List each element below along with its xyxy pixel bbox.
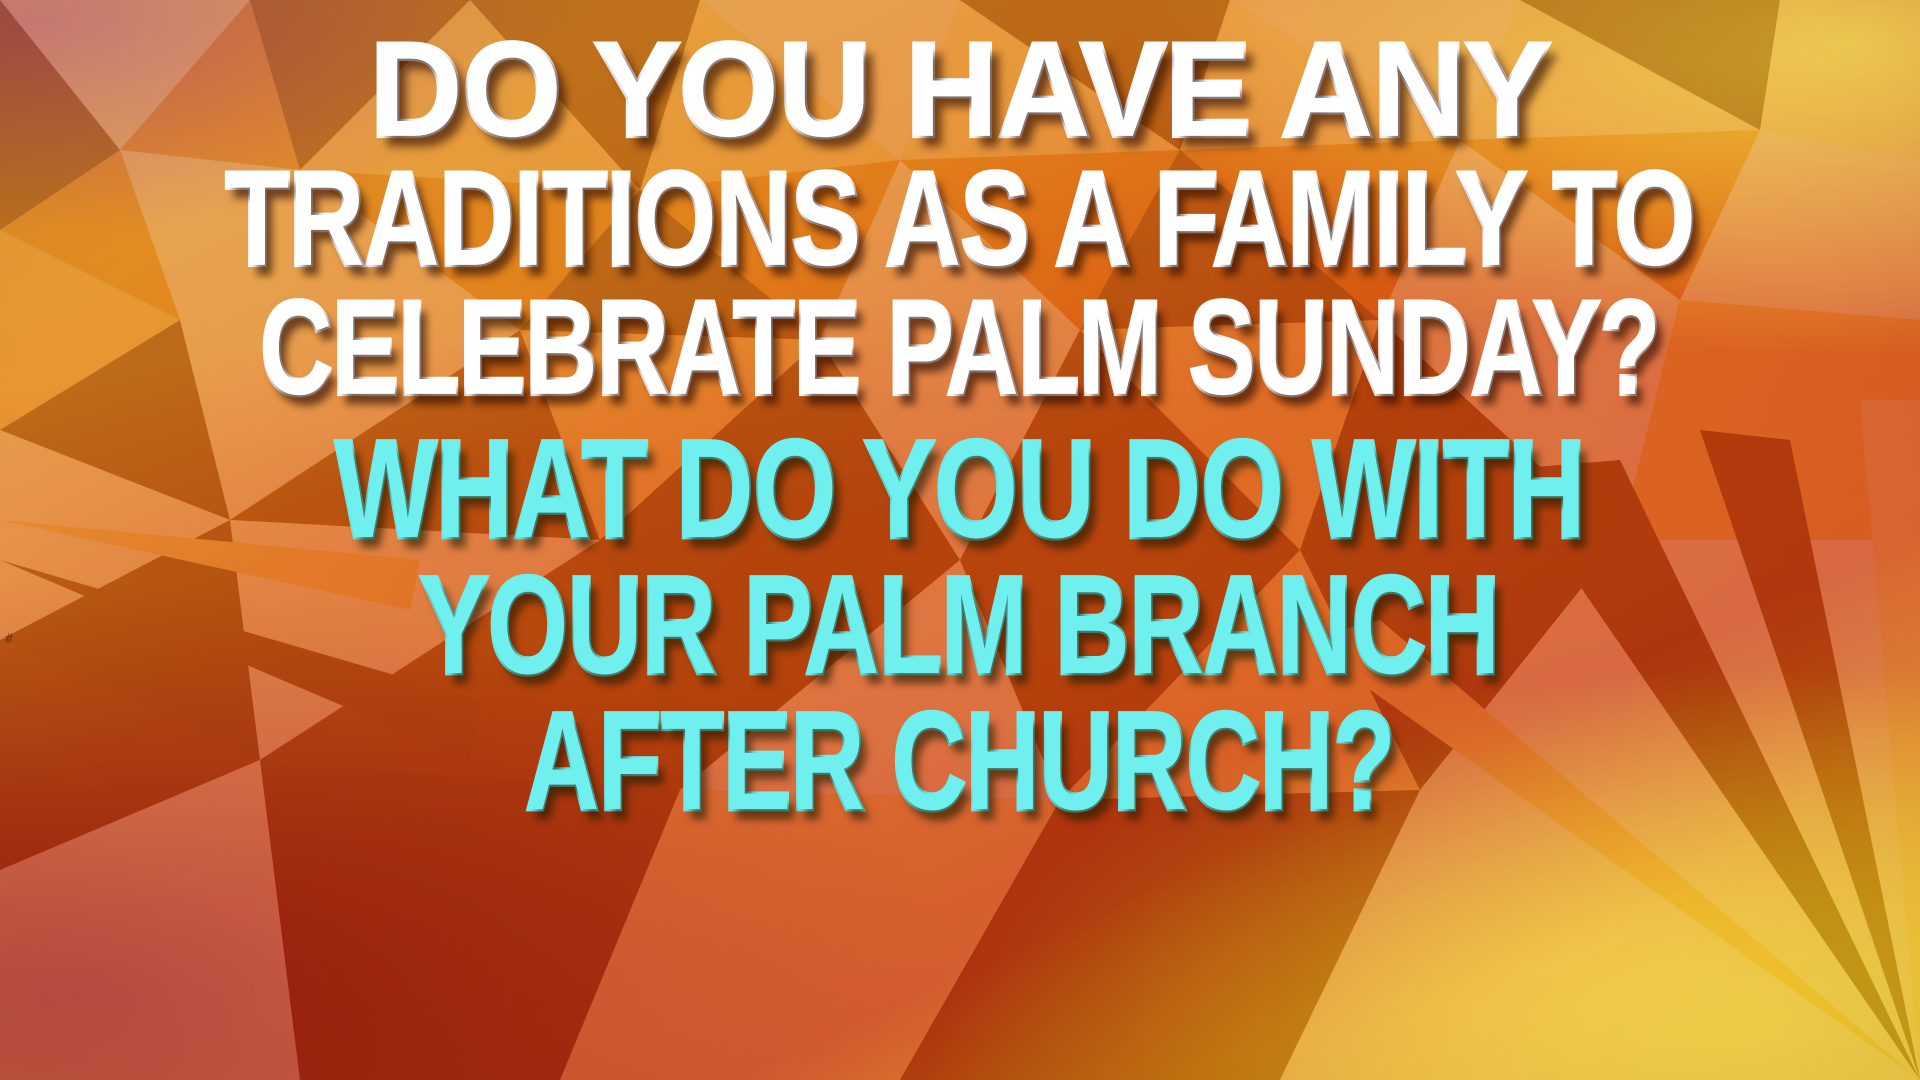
headline-line-4: WHAT DO YOU DO WITH bbox=[335, 424, 1585, 555]
headline-line-2: TRADITIONS AS A FAMILY TO bbox=[225, 157, 1695, 283]
poster-canvas: # DO YOU HAVE ANY TRADITIONS AS A FAMILY… bbox=[0, 0, 1920, 1080]
headline-line-6: AFTER CHURCH? bbox=[525, 696, 1395, 827]
headline-line-5: YOUR PALM BRANCH bbox=[420, 560, 1500, 691]
headline-block: DO YOU HAVE ANY TRADITIONS AS A FAMILY T… bbox=[0, 0, 1920, 1080]
headline-line-3: CELEBRATE PALM SUNDAY? bbox=[260, 286, 1660, 412]
headline-line-1: DO YOU HAVE ANY bbox=[370, 28, 1550, 154]
